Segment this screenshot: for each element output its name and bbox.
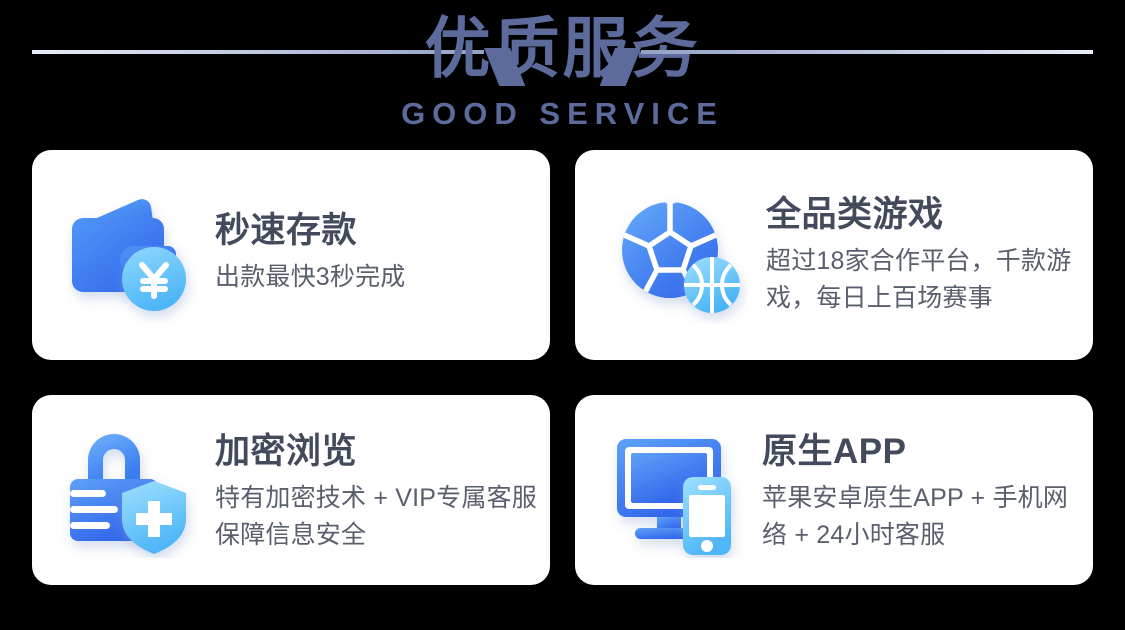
lock-shield-icon: [62, 423, 197, 558]
soccer-basketball-icon: [613, 188, 748, 323]
card-description: 苹果安卓原生APP + 手机网络 + 24小时客服: [762, 480, 1081, 554]
header: 优质服务 GOOD SERVICE: [0, 0, 1125, 145]
feature-card-native-app[interactable]: 原生APP 苹果安卓原生APP + 手机网络 + 24小时客服: [575, 395, 1093, 585]
card-title: 秒速存款: [215, 209, 538, 253]
card-title: 加密浏览: [215, 430, 538, 474]
card-text-block: 原生APP 苹果安卓原生APP + 手机网络 + 24小时客服: [762, 430, 1081, 554]
right-rule: [641, 50, 1093, 54]
card-description: 超过18家合作平台，千款游戏，每日上百场赛事: [766, 243, 1081, 317]
feature-card-all-category-games[interactable]: 全品类游戏 超过18家合作平台，千款游戏，每日上百场赛事: [575, 150, 1093, 360]
card-text-block: 全品类游戏 超过18家合作平台，千款游戏，每日上百场赛事: [766, 193, 1081, 317]
feature-card-instant-deposit[interactable]: 秒速存款 出款最快3秒完成: [32, 150, 550, 360]
card-description: 特有加密技术 + VIP专属客服保障信息安全: [215, 480, 538, 554]
feature-card-grid: 秒速存款 出款最快3秒完成: [32, 150, 1093, 585]
page-title: 优质服务: [0, 8, 1125, 88]
card-text-block: 秒速存款 出款最快3秒完成: [215, 209, 538, 296]
feature-card-encrypted-browsing[interactable]: 加密浏览 特有加密技术 + VIP专属客服保障信息安全: [32, 395, 550, 585]
card-title: 原生APP: [762, 430, 1081, 474]
page-subtitle: GOOD SERVICE: [0, 96, 1125, 132]
card-text-block: 加密浏览 特有加密技术 + VIP专属客服保障信息安全: [215, 430, 538, 554]
promo-banner: 优质服务 GOOD SERVICE: [0, 0, 1125, 630]
card-description: 出款最快3秒完成: [215, 259, 538, 296]
monitor-phone-icon: [609, 423, 744, 558]
card-title: 全品类游戏: [766, 193, 1081, 237]
wallet-yen-icon: [62, 188, 197, 323]
